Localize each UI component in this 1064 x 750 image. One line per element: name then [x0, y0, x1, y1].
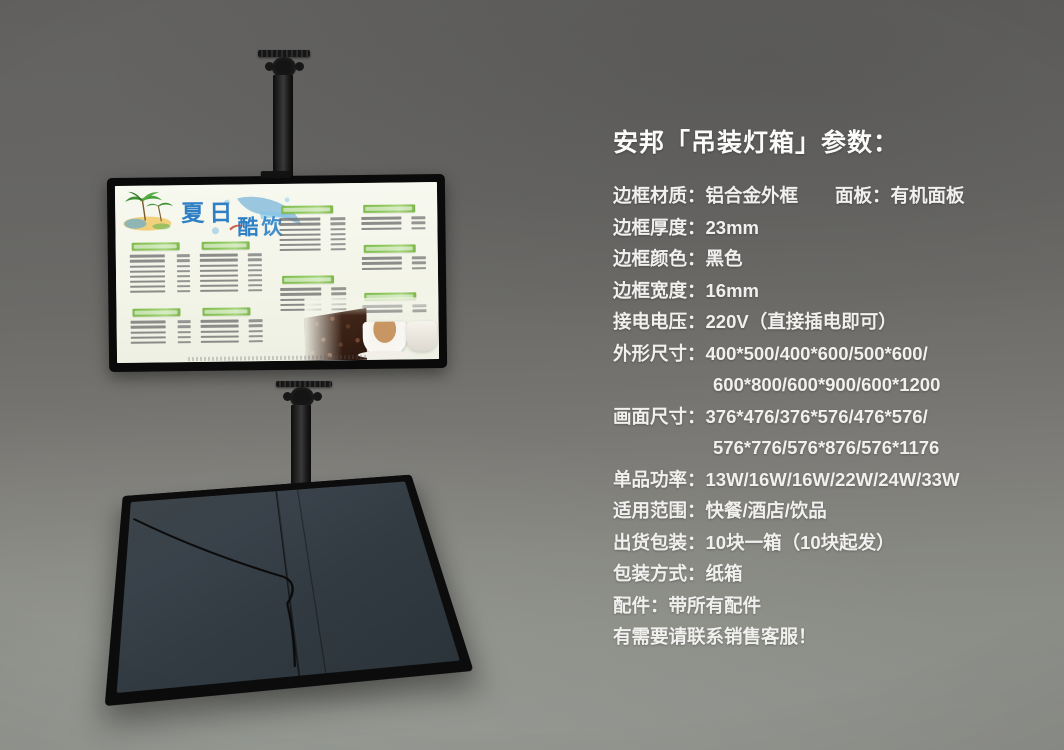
spec-row-continuation: 600*800/600*900/600*1200	[613, 369, 1043, 401]
menu-artwork: 夏 日 酷 饮	[115, 182, 439, 363]
spec-row: 边框宽度：16mm	[613, 275, 1043, 307]
specs-rows: 边框材质：铝合金外框 面板：有机面板 边框厚度：23mm 边框颜色：黑色 边框宽…	[613, 180, 1043, 653]
menu-section-header	[281, 205, 333, 214]
spec-row: 边框厚度：23mm	[613, 212, 1043, 244]
menu-section-rows	[362, 255, 426, 271]
panel-top-tab	[261, 171, 291, 178]
menu-section-header	[132, 242, 180, 251]
menu-section-rows	[279, 216, 345, 252]
spec-row-continuation: 576*776/576*876/576*1176	[613, 432, 1043, 464]
lightbox-panel-front: 夏 日 酷 饮	[107, 174, 447, 372]
menu-section-header	[282, 275, 334, 284]
photo-fade	[304, 297, 439, 361]
spec-row: 包装方式：纸箱	[613, 558, 1043, 590]
spec-row: 接电电压：220V（直接插电即可）	[613, 306, 1043, 338]
joint-knob-bottom-left	[283, 392, 292, 401]
joint-knob-top-left	[265, 62, 274, 71]
ceiling-plate-top	[258, 50, 310, 57]
svg-text:酷: 酷	[237, 215, 258, 239]
joint-knob-bottom-right	[313, 392, 322, 401]
coffee-photo	[304, 297, 439, 361]
spec-row: 适用范围：快餐/酒店/饮品	[613, 495, 1043, 527]
menu-section-rows	[130, 253, 190, 294]
svg-text:夏: 夏	[181, 201, 205, 227]
lightbox-panel-back	[105, 475, 474, 707]
power-cable	[117, 482, 460, 693]
panel-back-surface	[117, 482, 460, 693]
lightbox-panel-back-wrap	[105, 475, 474, 707]
menu-screen: 夏 日 酷 饮	[115, 182, 439, 363]
menu-section-header	[132, 308, 180, 317]
spec-row: 外形尺寸：400*500/400*600/500*600/	[613, 338, 1043, 370]
joint-knob-top-right	[295, 62, 304, 71]
spec-row: 边框颜色：黑色	[613, 243, 1043, 275]
svg-text:日: 日	[209, 201, 232, 227]
specs-title: 安邦「吊装灯箱」参数：	[613, 128, 1043, 158]
specifications-block: 安邦「吊装灯箱」参数： 边框材质：铝合金外框 面板：有机面板 边框厚度：23mm…	[613, 128, 1043, 653]
product-image-canvas: 夏 日 酷 饮	[0, 0, 1064, 750]
menu-section-rows	[200, 252, 262, 294]
mount-pole-top	[273, 75, 293, 179]
menu-section-header	[202, 241, 250, 250]
spec-row: 单品功率：13W/16W/16W/22W/24W/33W	[613, 464, 1043, 496]
spec-row: 边框材质：铝合金外框 面板：有机面板	[613, 180, 1043, 212]
spec-row: 出货包装：10块一箱（10块起发）	[613, 527, 1043, 559]
menu-section-rows	[361, 215, 425, 231]
menu-section-rows	[201, 318, 263, 344]
menu-section-rows	[131, 319, 191, 345]
spec-row-contact: 有需要请联系销售客服！	[613, 621, 1043, 653]
spec-row: 配件：带所有配件	[613, 590, 1043, 622]
menu-section-header	[363, 204, 415, 213]
menu-section-header	[202, 307, 250, 316]
menu-section-header	[364, 244, 416, 253]
spec-row: 画面尺寸：376*476/376*576/476*576/	[613, 401, 1043, 433]
